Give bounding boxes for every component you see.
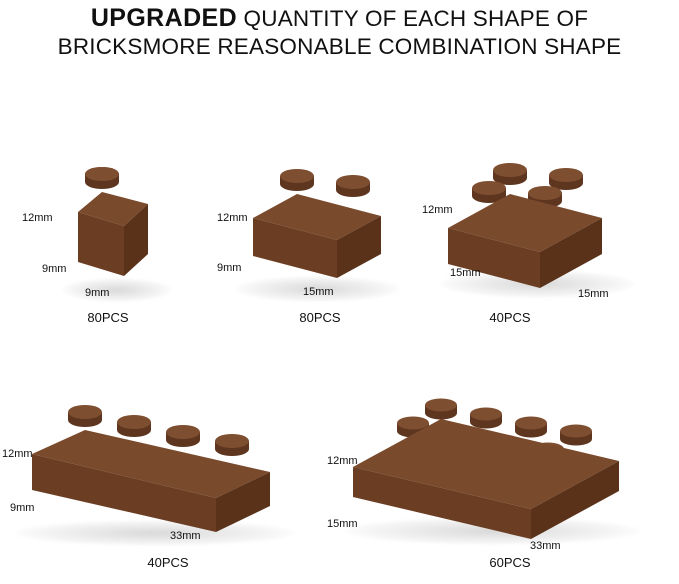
dim-width: 9mm	[85, 287, 109, 299]
quantity-label: 80PCS	[58, 310, 158, 325]
dim-height: 12mm	[217, 212, 248, 224]
dim-height: 12mm	[422, 204, 453, 216]
dim-depth: 9mm	[10, 502, 34, 514]
dim-width: 33mm	[170, 530, 201, 542]
dim-width: 15mm	[303, 286, 334, 298]
brick-figure-1x4: 12mm 9mm 33mm 40PCS	[10, 390, 300, 580]
quantity-label: 80PCS	[270, 310, 370, 325]
title-line-1-rest: QUANTITY OF EACH SHAPE OF	[237, 6, 588, 31]
title-line-1: UPGRADED QUANTITY OF EACH SHAPE OF	[0, 4, 679, 34]
title-emphasis: UPGRADED	[91, 4, 237, 32]
dim-height: 12mm	[327, 455, 358, 467]
dim-width: 33mm	[530, 540, 561, 552]
dim-depth: 9mm	[42, 263, 66, 275]
brick-figure-1x2: 12mm 9mm 15mm 80PCS	[225, 150, 400, 330]
quantity-label: 60PCS	[460, 555, 560, 570]
dim-depth: 15mm	[327, 518, 358, 530]
brick-2x4-illustration	[335, 385, 645, 540]
dim-depth: 9mm	[217, 262, 241, 274]
brick-1x2-illustration	[225, 150, 400, 290]
quantity-label: 40PCS	[118, 555, 218, 570]
brick-figure-2x4: 12mm 15mm 33mm 60PCS	[335, 385, 645, 580]
dim-depth: 15mm	[450, 267, 481, 279]
page-title: UPGRADED QUANTITY OF EACH SHAPE OF BRICK…	[0, 4, 679, 60]
brick-figure-2x2: 12mm 15mm 15mm 40PCS	[430, 140, 640, 330]
dim-width: 15mm	[578, 288, 609, 300]
brick-figure-1x1: 12mm 9mm 9mm 80PCS	[40, 150, 170, 330]
title-line-2: BRICKSMORE REASONABLE COMBINATION SHAPE	[0, 34, 679, 61]
dim-height: 12mm	[2, 448, 33, 460]
quantity-label: 40PCS	[460, 310, 560, 325]
dim-height: 12mm	[22, 212, 53, 224]
brick-1x4-illustration	[10, 390, 300, 540]
